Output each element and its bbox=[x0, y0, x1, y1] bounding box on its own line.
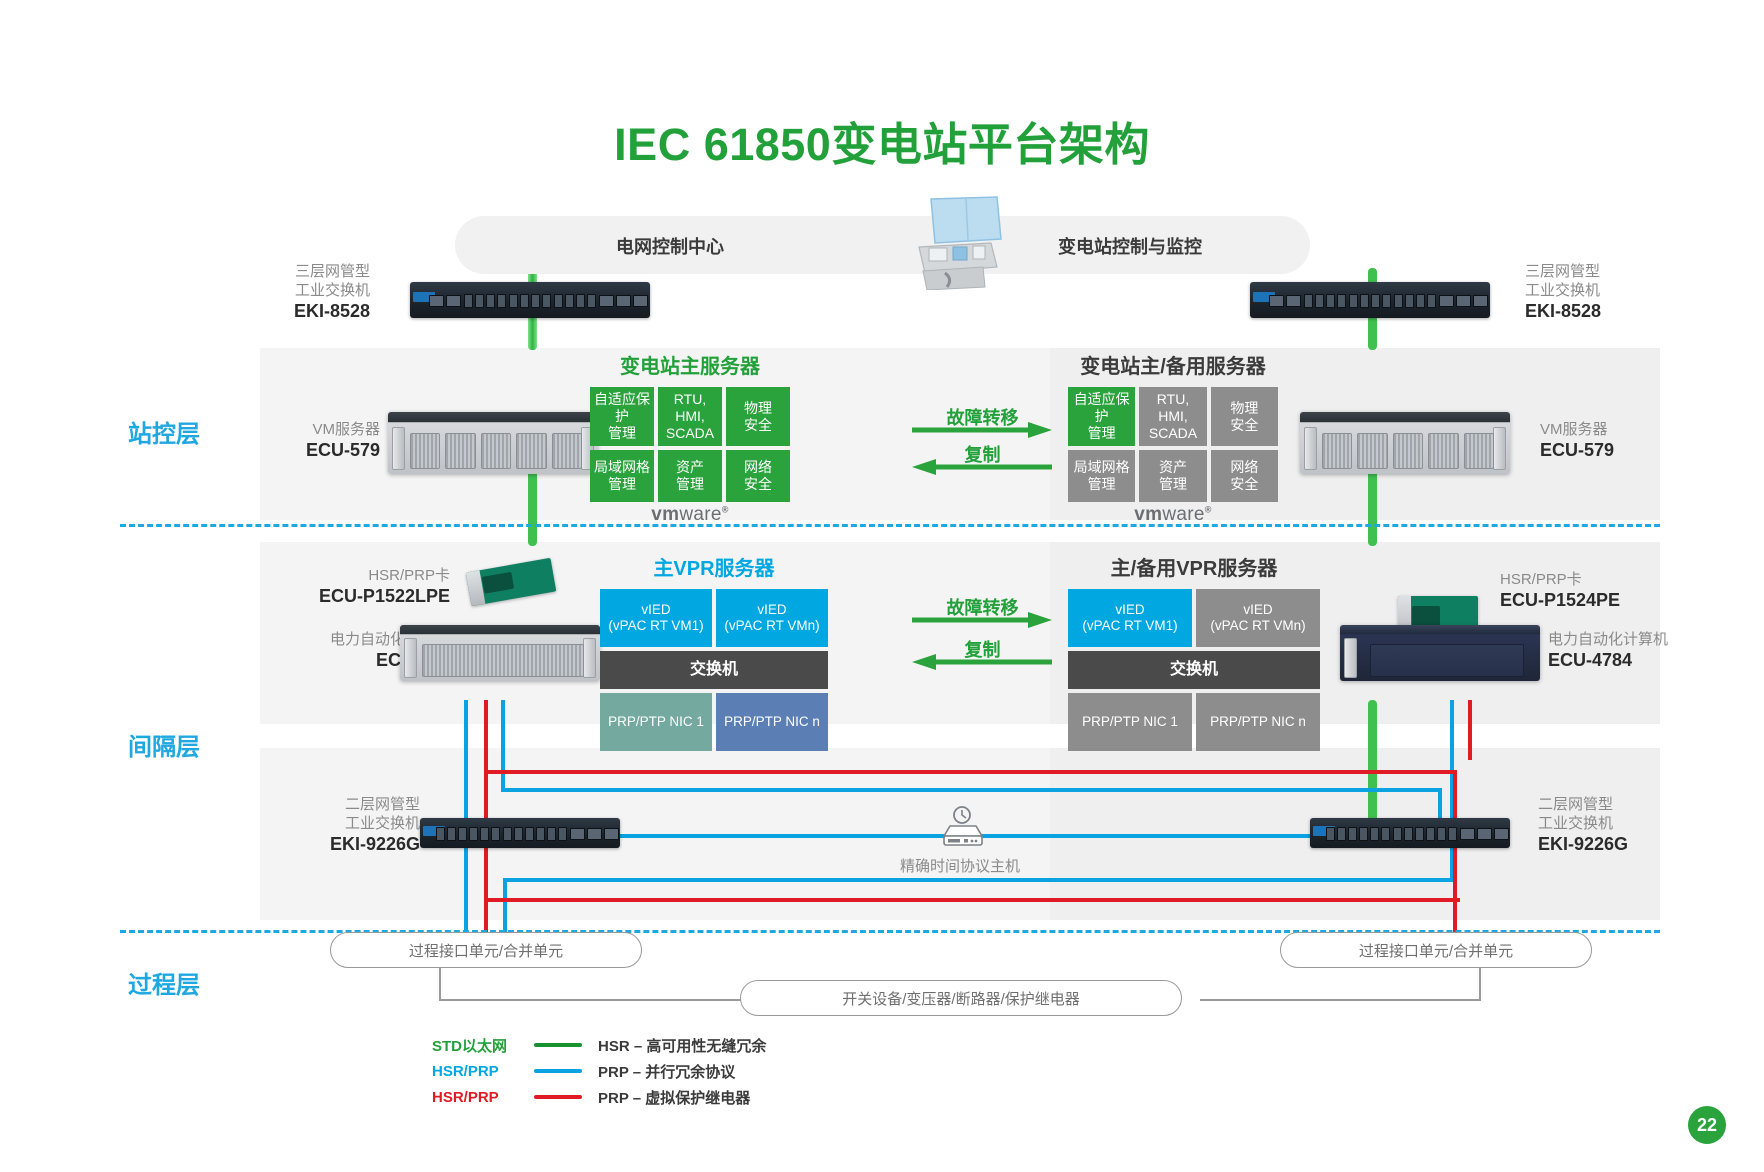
bay-failover-label: 故障转移 bbox=[900, 594, 1065, 620]
legend-row-prp-blue: HSR/PRP PRP – 并行冗余协议 bbox=[432, 1058, 952, 1084]
page-title: IEC 61850变电站平台架构 bbox=[0, 108, 1764, 173]
cell-physical-security-standby[interactable]: 物理安全 bbox=[1211, 387, 1278, 446]
vied-vmn-standby[interactable]: vIED(vPAC RT VMn) bbox=[1196, 589, 1320, 647]
cell-physical-security[interactable]: 物理安全 bbox=[726, 387, 790, 446]
layer-label-station: 站控层 bbox=[128, 414, 278, 449]
grid-control-center-label: 电网控制中心 bbox=[540, 233, 800, 259]
legend-tag-hsr-prp-blue: HSR/PRP bbox=[432, 1063, 528, 1080]
legend-line-red bbox=[534, 1095, 582, 1099]
vmware-logo: vmware® bbox=[651, 504, 728, 526]
legend-line-green bbox=[534, 1043, 582, 1047]
primary-panel-title: 变电站主服务器 bbox=[590, 350, 790, 379]
cell-lan-grid-mgmt[interactable]: 局域网格管理 bbox=[590, 450, 654, 502]
process-interface-unit-right[interactable]: 过程接口单元/合并单元 bbox=[1280, 932, 1592, 968]
legend-desc-prp: PRP – 并行冗余协议 bbox=[598, 1061, 735, 1082]
switchgear-transformer-pill[interactable]: 开关设备/变压器/断路器/保护继电器 bbox=[740, 980, 1182, 1016]
prp-ptp-nic-n-standby[interactable]: PRP/PTP NIC n bbox=[1196, 693, 1320, 751]
process-interface-unit-left[interactable]: 过程接口单元/合并单元 bbox=[330, 932, 642, 968]
prp-ptp-nic-1[interactable]: PRP/PTP NIC 1 bbox=[600, 693, 712, 751]
l3-switch-device-right bbox=[1250, 282, 1490, 318]
power-automation-computer-right bbox=[1340, 625, 1540, 681]
vm-server-device-right bbox=[1300, 412, 1510, 474]
legend-desc-hsr: HSR – 高可用性无缝冗余 bbox=[598, 1035, 766, 1056]
right-l3-switch-label: 三层网管型 工业交换机 EKI-8528 bbox=[1525, 262, 1665, 321]
primary-vpr-stack: vIED(vPAC RT VM1) vIED(vPAC RT VMn) 交换机 … bbox=[600, 589, 828, 751]
right-vm-server-label: VM服务器 ECU-579 bbox=[1540, 420, 1660, 460]
right-hsr-prp-card-label: HSR/PRP卡 ECU-P1524PE bbox=[1500, 570, 1660, 610]
legend-desc-vpr: PRP – 虚拟保护继电器 bbox=[598, 1087, 750, 1108]
cell-lan-grid-mgmt-standby[interactable]: 局域网格管理 bbox=[1068, 450, 1135, 502]
vmware-logo-standby: vmware® bbox=[1134, 504, 1211, 526]
cell-rtu-hmi-scada[interactable]: RTU, HMI,SCADA bbox=[658, 387, 722, 446]
vied-vmn[interactable]: vIED(vPAC RT VMn) bbox=[716, 589, 828, 647]
left-hsr-prp-card-label: HSR/PRP卡 ECU-P1522LPE bbox=[300, 566, 450, 606]
station-failover-label: 故障转移 bbox=[900, 404, 1065, 430]
primary-function-matrix: 自适应保护管理 RTU, HMI,SCADA 物理安全 局域网格管理 资产管理 … bbox=[590, 387, 790, 502]
vied-vm1-standby[interactable]: vIED(vPAC RT VM1) bbox=[1068, 589, 1192, 647]
cell-adaptive-protection-standby[interactable]: 自适应保护管理 bbox=[1068, 387, 1135, 446]
standby-hypervisor-bar: vmware® bbox=[1068, 502, 1278, 528]
page-number-badge: 22 bbox=[1688, 1106, 1726, 1144]
primary-vpr-title: 主VPR服务器 bbox=[600, 552, 828, 581]
standby-vpr-server-panel: 主/备用VPR服务器 vIED(vPAC RT VM1) vIED(vPAC R… bbox=[1068, 552, 1320, 751]
primary-vpr-server-panel: 主VPR服务器 vIED(vPAC RT VM1) vIED(vPAC RT V… bbox=[600, 552, 828, 751]
substation-primary-server-panel: 变电站主服务器 自适应保护管理 RTU, HMI,SCADA 物理安全 局域网格… bbox=[590, 350, 790, 528]
prp-ptp-nic-n[interactable]: PRP/PTP NIC n bbox=[716, 693, 828, 751]
cell-adaptive-protection[interactable]: 自适应保护管理 bbox=[590, 387, 654, 446]
layer-label-process: 过程层 bbox=[128, 965, 278, 1000]
left-vm-server-label: VM服务器 ECU-579 bbox=[270, 420, 380, 460]
cell-asset-mgmt[interactable]: 资产管理 bbox=[658, 450, 722, 502]
station-replication-label: 复制 bbox=[900, 441, 1065, 467]
l2-switch-device-left bbox=[420, 818, 620, 848]
substation-standby-server-panel: 变电站主/备用服务器 自适应保护管理 RTU, HMI,SCADA 物理安全 局… bbox=[1068, 350, 1278, 528]
vm-server-device-left bbox=[388, 412, 598, 474]
power-automation-computer-left bbox=[400, 625, 600, 681]
cell-network-security[interactable]: 网络安全 bbox=[726, 450, 790, 502]
layer-separator-1 bbox=[120, 524, 1660, 527]
standby-vpr-title: 主/备用VPR服务器 bbox=[1068, 552, 1320, 581]
right-power-computer-label: 电力自动化计算机 ECU-4784 bbox=[1548, 630, 1728, 670]
virtual-switch-standby[interactable]: 交换机 bbox=[1068, 651, 1320, 689]
ptp-clock-device-icon bbox=[930, 806, 990, 850]
bay-replication-label: 复制 bbox=[900, 636, 1065, 662]
layer-label-bay: 间隔层 bbox=[128, 727, 278, 762]
prp-ptp-nic-1-standby[interactable]: PRP/PTP NIC 1 bbox=[1068, 693, 1192, 751]
legend-line-blue bbox=[534, 1069, 582, 1073]
l2-switch-device-right bbox=[1310, 818, 1510, 848]
left-l3-switch-label: 三层网管型 工业交换机 EKI-8528 bbox=[250, 262, 370, 321]
vied-vm1[interactable]: vIED(vPAC RT VM1) bbox=[600, 589, 712, 647]
standby-function-matrix: 自适应保护管理 RTU, HMI,SCADA 物理安全 局域网格管理 资产管理 … bbox=[1068, 387, 1278, 502]
l3-switch-device-left bbox=[410, 282, 650, 318]
control-console-icon bbox=[905, 195, 1015, 290]
standby-vpr-stack: vIED(vPAC RT VM1) vIED(vPAC RT VMn) 交换机 … bbox=[1068, 589, 1320, 751]
legend-row-prp-red: HSR/PRP PRP – 虚拟保护继电器 bbox=[432, 1084, 952, 1110]
legend-tag-std-ethernet: STD以太网 bbox=[432, 1035, 528, 1056]
cell-asset-mgmt-standby[interactable]: 资产管理 bbox=[1139, 450, 1206, 502]
cell-network-security-standby[interactable]: 网络安全 bbox=[1211, 450, 1278, 502]
cell-rtu-hmi-scada-standby[interactable]: RTU, HMI,SCADA bbox=[1139, 387, 1206, 446]
virtual-switch[interactable]: 交换机 bbox=[600, 651, 828, 689]
left-l2-switch-label: 二层网管型 工业交换机 EKI-9226G bbox=[270, 795, 420, 854]
legend-row-std-ethernet: STD以太网 HSR – 高可用性无缝冗余 bbox=[432, 1032, 952, 1058]
right-l2-switch-label: 二层网管型 工业交换机 EKI-9226G bbox=[1538, 795, 1688, 854]
legend: STD以太网 HSR – 高可用性无缝冗余 HSR/PRP PRP – 并行冗余… bbox=[432, 1032, 952, 1110]
legend-tag-hsr-prp-red: HSR/PRP bbox=[432, 1089, 528, 1106]
ptp-host-label: 精确时间协议主机 bbox=[830, 855, 1090, 876]
standby-panel-title: 变电站主/备用服务器 bbox=[1068, 350, 1278, 379]
primary-hypervisor-bar: vmware® bbox=[590, 502, 790, 528]
substation-control-label: 变电站控制与监控 bbox=[980, 233, 1280, 259]
